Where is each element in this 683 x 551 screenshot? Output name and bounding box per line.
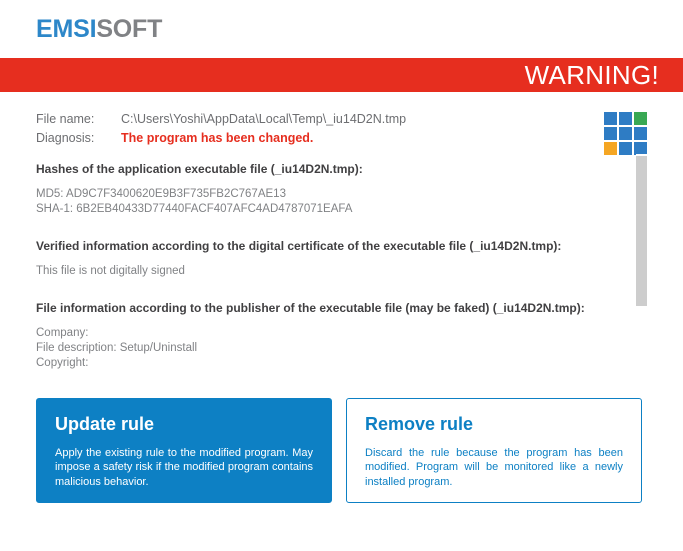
diagnosis-label: Diagnosis:: [36, 129, 121, 148]
tile-5: [619, 127, 632, 140]
certificate-section: Verified information according to the di…: [36, 239, 683, 279]
remove-rule-description: Discard the rule because the program has…: [365, 446, 623, 490]
hashes-section-title: Hashes of the application executable fil…: [36, 162, 683, 176]
details-scrollbar-thumb[interactable]: [636, 156, 647, 306]
certificate-status: This file is not digitally signed: [36, 264, 683, 279]
publisher-copyright: Copyright:: [36, 356, 683, 371]
hashes-section: Hashes of the application executable fil…: [36, 162, 683, 217]
publisher-description: File description: Setup/Uninstall: [36, 341, 683, 356]
certificate-section-title: Verified information according to the di…: [36, 239, 683, 253]
logo-text-primary: EMSI: [36, 17, 96, 42]
update-rule-description: Apply the existing rule to the modified …: [55, 446, 313, 490]
file-name-label: File name:: [36, 110, 121, 129]
details-panel: Hashes of the application executable fil…: [0, 154, 683, 380]
windows-tiles-icon: [604, 112, 647, 155]
update-rule-title: Update rule: [55, 415, 313, 435]
file-name-value: C:\Users\Yoshi\AppData\Local\Temp\_iu14D…: [121, 110, 406, 129]
tile-6: [634, 127, 647, 140]
update-rule-button[interactable]: Update rule Apply the existing rule to t…: [36, 398, 332, 503]
warning-banner: WARNING!: [0, 58, 683, 92]
remove-rule-title: Remove rule: [365, 415, 623, 435]
warning-banner-label: WARNING!: [525, 62, 659, 88]
app-header: EMSI SOFT: [0, 0, 683, 58]
logo-text-secondary: SOFT: [96, 17, 162, 42]
file-summary: File name: C:\Users\Yoshi\AppData\Local\…: [0, 92, 683, 154]
diagnosis-value: The program has been changed.: [121, 129, 313, 148]
tile-4: [604, 127, 617, 140]
tile-2: [619, 112, 632, 125]
diagnosis-row: Diagnosis: The program has been changed.: [36, 129, 683, 148]
publisher-company: Company:: [36, 326, 683, 341]
emsisoft-logo: EMSI SOFT: [36, 17, 162, 42]
tile-1: [604, 112, 617, 125]
publisher-section-title: File information according to the publis…: [36, 301, 683, 315]
tile-3: [634, 112, 647, 125]
remove-rule-button[interactable]: Remove rule Discard the rule because the…: [346, 398, 642, 503]
action-buttons: Update rule Apply the existing rule to t…: [0, 380, 683, 503]
file-name-row: File name: C:\Users\Yoshi\AppData\Local\…: [36, 110, 683, 129]
publisher-section: File information according to the publis…: [36, 301, 683, 371]
details-scrollbar[interactable]: [636, 154, 647, 380]
hash-sha1: SHA-1: 6B2EB40433D77440FACF407AFC4AD4787…: [36, 202, 683, 217]
hash-md5: MD5: AD9C7F3400620E9B3F735FB2C767AE13: [36, 187, 683, 202]
